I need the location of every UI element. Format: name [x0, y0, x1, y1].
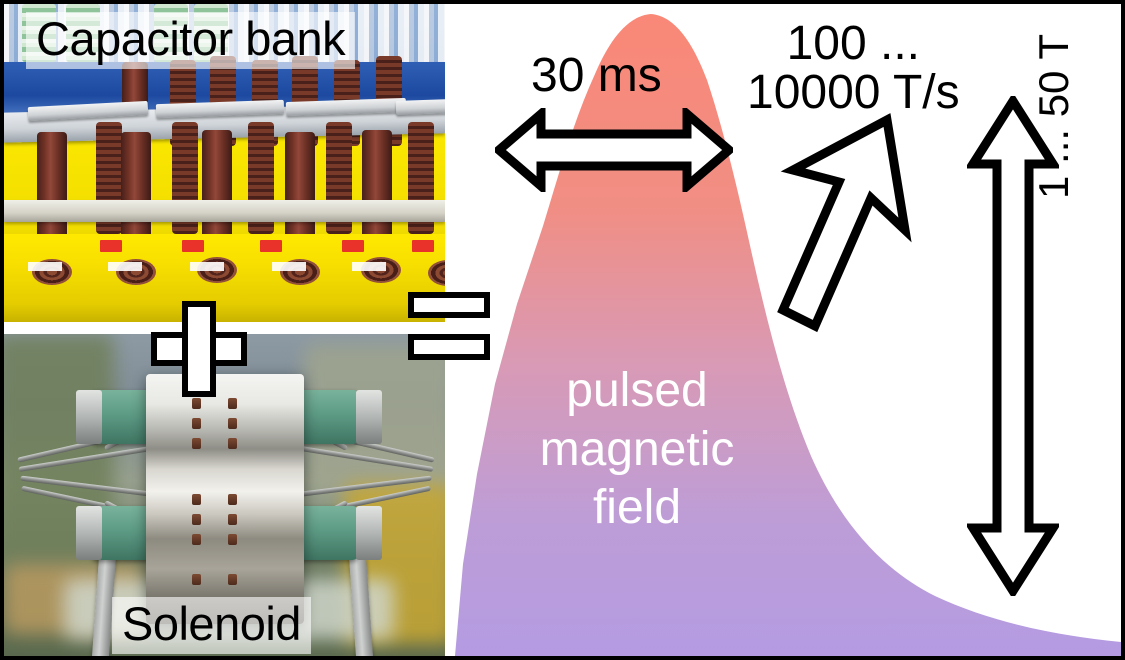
equals-operator-icon [408, 292, 490, 364]
magnet-core [146, 374, 304, 624]
red-marker [412, 240, 434, 252]
equals-top-bar [408, 292, 490, 318]
sweep-rate-label: 100 ... 10000 T/s [747, 20, 960, 118]
coil-end-cap [356, 390, 382, 444]
red-marker [342, 240, 364, 252]
plus-operator-icon [151, 301, 247, 397]
bolt [228, 398, 237, 409]
coil-block [296, 390, 358, 444]
bolt [192, 418, 201, 429]
solenoid-caption: Solenoid [112, 597, 311, 654]
bolt [228, 574, 237, 585]
can-label [108, 262, 142, 271]
bolt [228, 514, 237, 525]
can-label [272, 262, 306, 271]
bolt [228, 418, 237, 429]
sweep-rate-arrow-icon [767, 112, 937, 334]
connector-plate [396, 99, 445, 115]
bolt [192, 574, 201, 585]
capacitor-bank-caption: Capacitor bank [26, 12, 355, 69]
capacitor-bank-photo: Capacitor bank [4, 4, 445, 322]
coil-block [296, 506, 358, 560]
plus-center-fill [188, 338, 210, 360]
can-label [28, 262, 62, 271]
bolt [192, 438, 201, 449]
can-label [352, 262, 386, 271]
bolt [192, 494, 201, 505]
bolt [192, 534, 201, 545]
pulse-diagram-panel: 30 ms 100 ... 10000 T/s 1 ... 50 T pulse… [455, 4, 1121, 656]
duration-arrow-icon [495, 108, 733, 192]
red-marker [260, 240, 282, 252]
bolt [228, 438, 237, 449]
duration-label: 30 ms [531, 48, 662, 103]
lower-rail [4, 200, 445, 222]
bolt [228, 534, 237, 545]
can-label [190, 262, 224, 271]
bolt [192, 514, 201, 525]
bolt [228, 494, 237, 505]
pulsed-field-label: pulsed magnetic field [507, 362, 767, 538]
field-range-label: 1 ... 50 T [1030, 34, 1078, 199]
red-marker [182, 240, 204, 252]
infographic-root: Capacitor bank [0, 0, 1125, 660]
bolt [192, 398, 201, 409]
red-marker [100, 240, 122, 252]
coil-end-cap [76, 506, 102, 560]
coil-end-cap [356, 506, 382, 560]
coil-end-cap [76, 390, 102, 444]
equals-bottom-bar [408, 334, 490, 360]
